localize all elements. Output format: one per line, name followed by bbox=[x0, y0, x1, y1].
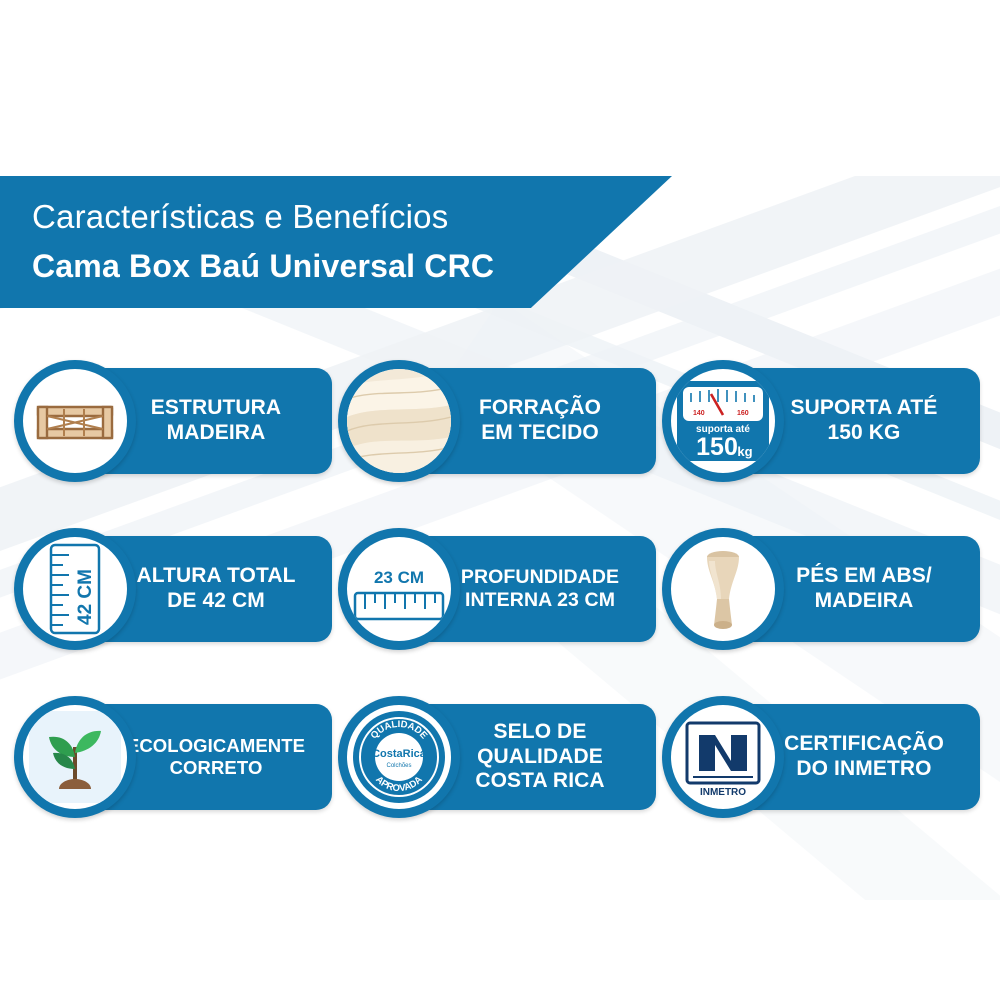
bottom-whitespace bbox=[0, 900, 1000, 1000]
seal-brand: CostaRica bbox=[372, 748, 427, 760]
page-subtitle: Cama Box Baú Universal CRC bbox=[32, 248, 652, 285]
feature-label-line2: CORRETO bbox=[170, 757, 263, 779]
feature-label: ALTURA TOTAL DE 42 CM bbox=[110, 536, 322, 642]
feature-item-suporta-150kg: SUPORTA ATÉ 150 KG bbox=[662, 360, 980, 484]
feature-badge bbox=[14, 696, 136, 818]
feature-badge: 140 160 suporta até 150 kg bbox=[662, 360, 784, 482]
feature-label-line2: DE 42 CM bbox=[167, 589, 265, 614]
feature-label-line2: QUALIDADE bbox=[477, 745, 603, 770]
feature-badge bbox=[662, 528, 784, 650]
seal-brand-sub: Colchões bbox=[386, 763, 411, 769]
inmetro-label: INMETRO bbox=[700, 787, 746, 798]
feature-label: ESTRUTURA MADEIRA bbox=[110, 368, 322, 474]
infographic-canvas: Características e Benefícios Cama Box Ba… bbox=[0, 0, 1000, 1000]
feature-label: SUPORTA ATÉ 150 KG bbox=[758, 368, 970, 474]
feature-label: ECOLOGICAMENTE CORRETO bbox=[110, 704, 322, 810]
feature-label: CERTIFICAÇÃO DO INMETRO bbox=[758, 704, 970, 810]
top-whitespace bbox=[0, 0, 1000, 176]
feature-label-line2: MADEIRA bbox=[167, 421, 266, 446]
fabric-icon bbox=[347, 369, 451, 473]
feature-badge bbox=[338, 360, 460, 482]
feature-label-line1: PÉS EM ABS/ bbox=[796, 564, 932, 589]
feature-badge bbox=[14, 360, 136, 482]
feature-badge: INMETRO bbox=[662, 696, 784, 818]
page-title: Características e Benefícios bbox=[32, 198, 652, 236]
scale-tick-left: 140 bbox=[693, 410, 705, 417]
feature-label-line1: ALTURA TOTAL bbox=[136, 564, 295, 589]
feature-label-line2: 150 KG bbox=[828, 421, 901, 446]
feature-label-line1: FORRAÇÃO bbox=[479, 396, 601, 421]
feature-badge: 23 CM bbox=[338, 528, 460, 650]
feature-label-line2: INTERNA 23 CM bbox=[465, 589, 615, 612]
feature-label-line3: COSTA RICA bbox=[475, 769, 604, 794]
feature-item-altura-42cm: ALTURA TOTAL DE 42 CM bbox=[14, 528, 332, 652]
feature-badge: QUALIDADE APROVADA CostaRica Colchões bbox=[338, 696, 460, 818]
feature-item-profundidade-23cm: PROFUNDIDADE INTERNA 23 CM 23 CM bbox=[338, 528, 656, 652]
scale-value: 150 bbox=[696, 433, 738, 461]
inmetro-icon: INMETRO bbox=[671, 705, 775, 809]
feature-grid: ESTRUTURA MADEIRA bbox=[0, 360, 1000, 820]
feature-label: PROFUNDIDADE INTERNA 23 CM bbox=[434, 536, 646, 642]
feature-label-line1: SELO DE bbox=[494, 720, 587, 745]
ruler-vertical-label: 42 CM bbox=[75, 569, 96, 625]
scale-unit: kg bbox=[737, 444, 752, 459]
feature-label-line1: ECOLOGICAMENTE bbox=[127, 735, 305, 757]
scale-tick-right: 160 bbox=[737, 410, 749, 417]
feature-label-line1: PROFUNDIDADE bbox=[461, 566, 619, 589]
ruler-horizontal-icon: 23 CM bbox=[347, 537, 451, 641]
feature-label-line2: EM TECIDO bbox=[481, 421, 599, 446]
eco-plant-icon bbox=[23, 705, 127, 809]
feature-badge: 42 CM bbox=[14, 528, 136, 650]
feature-item-estrutura-madeira: ESTRUTURA MADEIRA bbox=[14, 360, 332, 484]
feature-label-line2: DO INMETRO bbox=[796, 757, 931, 782]
feature-label: PÉS EM ABS/ MADEIRA bbox=[758, 536, 970, 642]
feature-label: SELO DE QUALIDADE COSTA RICA bbox=[434, 704, 646, 810]
wood-frame-icon bbox=[23, 369, 127, 473]
feature-item-ecologicamente-correto: ECOLOGICAMENTE CORRETO bbox=[14, 696, 332, 820]
costa-rica-seal-icon: QUALIDADE APROVADA CostaRica Colchões bbox=[347, 705, 451, 809]
feature-item-pes-abs-madeira: PÉS EM ABS/ MADEIRA bbox=[662, 528, 980, 652]
ruler-horizontal-label: 23 CM bbox=[374, 568, 424, 587]
scale-icon: 140 160 suporta até 150 kg bbox=[671, 369, 775, 473]
feature-label-line2: MADEIRA bbox=[815, 589, 914, 614]
furniture-leg-icon bbox=[671, 537, 775, 641]
feature-item-certificacao-inmetro: CERTIFICAÇÃO DO INMETRO INMETRO bbox=[662, 696, 980, 820]
feature-item-forracao-tecido: FORRAÇÃO EM TECIDO bbox=[338, 360, 656, 484]
feature-label-line1: ESTRUTURA bbox=[151, 396, 281, 421]
feature-label-line1: CERTIFICAÇÃO bbox=[784, 732, 944, 757]
feature-label: FORRAÇÃO EM TECIDO bbox=[434, 368, 646, 474]
feature-label-line1: SUPORTA ATÉ bbox=[791, 396, 938, 421]
ruler-vertical-icon: 42 CM bbox=[23, 537, 127, 641]
feature-item-selo-costa-rica: SELO DE QUALIDADE COSTA RICA QUALIDADE bbox=[338, 696, 656, 820]
